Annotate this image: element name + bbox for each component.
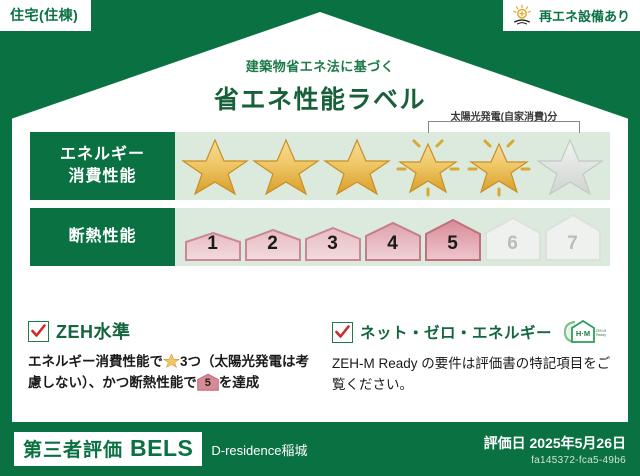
- zeh-standard-title: ZEH水準: [56, 318, 131, 344]
- insulation-badge-6: 6: [484, 216, 542, 261]
- net-zero-energy-title: ネット・ゼロ・エネルギー: [360, 321, 552, 343]
- evaluation-info: 評価日 2025年5月26日 fa145372-fca5-49b6: [484, 433, 626, 466]
- star-rating: [181, 135, 604, 197]
- insulation-badge-3-value: 3: [304, 233, 362, 255]
- star-2-filled: [252, 135, 320, 197]
- star-3-filled: [323, 135, 391, 197]
- svg-text:Ready: Ready: [596, 333, 606, 337]
- insulation-badge-2: 2: [244, 228, 302, 261]
- insulation-badge-5: 5: [424, 218, 482, 261]
- solar-generation-note: 太陽光発電(自家消費)分: [411, 108, 597, 123]
- energy-label-line2: 消費性能: [68, 166, 136, 188]
- building-type-chip: 住宅(住棟): [0, 0, 91, 31]
- inline-insulation-badge: 5: [197, 373, 219, 391]
- energy-consumption-row: エネルギー 消費性能 太陽光発電(自家消費)分: [30, 132, 610, 200]
- zeh-m-ready-logo: H·M ZEH-M Ready: [561, 318, 607, 346]
- net-zero-energy-head: ネット・ゼロ・エネルギー H·M ZEH-M Ready: [332, 318, 618, 346]
- evaluation-id: fa145372-fca5-49b6: [484, 455, 626, 466]
- energy-consumption-stars-area: 太陽光発電(自家消費)分: [175, 132, 610, 200]
- star-5-filled-solar: [465, 135, 533, 197]
- energy-label-line1: エネルギー: [60, 144, 145, 166]
- bels-jp-label: 第三者評価: [23, 435, 123, 462]
- building-name: D-residence稲城: [211, 440, 307, 459]
- zeh-body-post: を達成: [219, 375, 260, 390]
- insulation-grade-scale: 1 2 3: [184, 213, 602, 261]
- insulation-badge-3: 3: [304, 226, 362, 261]
- insulation-badges-area: 1 2 3: [175, 208, 610, 266]
- check-icon: [332, 322, 353, 343]
- insulation-badge-4-value: 4: [364, 233, 422, 255]
- insulation-badge-5-value: 5: [424, 233, 482, 255]
- sun-solar-icon: [511, 4, 533, 26]
- net-zero-energy-note: ネット・ゼロ・エネルギー H·M ZEH-M Ready ZEH-M Ready…: [332, 318, 618, 396]
- insulation-performance-label: 断熱性能: [30, 208, 175, 266]
- zeh-standard-note: ZEH水準 エネルギー消費性能で3つ（太陽光発電は考慮しない）、かつ断熱性能で5…: [28, 318, 314, 396]
- insulation-badge-1: 1: [184, 231, 242, 261]
- insulation-label-text: 断熱性能: [68, 226, 136, 248]
- inline-badge-value: 5: [197, 373, 219, 391]
- star-1-filled: [181, 135, 249, 197]
- inline-star-icon: [163, 352, 180, 369]
- notes-section: ZEH水準 エネルギー消費性能で3つ（太陽光発電は考慮しない）、かつ断熱性能で5…: [28, 318, 618, 396]
- label-title-block: 建築物省エネ法に基づく 省エネ性能ラベル: [0, 56, 640, 116]
- insulation-badge-7: 7: [544, 213, 602, 261]
- insulation-badge-6-value: 6: [484, 233, 542, 255]
- star-4-filled-solar: [394, 135, 462, 197]
- insulation-badge-1-value: 1: [184, 233, 242, 255]
- title-subtitle: 建築物省エネ法に基づく: [0, 56, 640, 75]
- insulation-badge-7-value: 7: [544, 233, 602, 255]
- insulation-performance-row: 断熱性能 1: [30, 208, 610, 266]
- insulation-badge-2-value: 2: [244, 233, 302, 255]
- svg-text:H·M: H·M: [576, 329, 590, 338]
- label-footer: 第三者評価 BELS D-residence稲城 評価日 2025年5月26日 …: [0, 422, 640, 476]
- rating-rows: エネルギー 消費性能 太陽光発電(自家消費)分: [30, 132, 610, 266]
- renewable-chip-label: 再エネ設備あり: [539, 6, 630, 25]
- bels-block: 第三者評価 BELS D-residence稲城: [14, 432, 307, 466]
- zeh-standard-body: エネルギー消費性能で3つ（太陽光発電は考慮しない）、かつ断熱性能で5を達成: [28, 352, 314, 394]
- evaluation-date: 評価日 2025年5月26日: [484, 433, 626, 453]
- zeh-standard-head: ZEH水準: [28, 318, 314, 344]
- energy-consumption-label: エネルギー 消費性能: [30, 132, 175, 200]
- net-zero-energy-body: ZEH-M Ready の要件は評価書の特記項目をご覧ください。: [332, 354, 618, 396]
- insulation-badge-4: 4: [364, 221, 422, 261]
- zeh-body-pre: エネルギー消費性能で: [28, 354, 163, 369]
- energy-performance-label: 住宅(住棟) 再エネ設備あり 建築物省エネ法に基づく 省エネ性能ラベル: [0, 0, 640, 476]
- check-icon: [28, 321, 49, 342]
- renewable-equipment-chip: 再エネ設備あり: [503, 0, 640, 31]
- bels-en-label: BELS: [130, 435, 193, 462]
- bels-chip: 第三者評価 BELS: [14, 432, 202, 466]
- star-6-empty: [536, 135, 604, 197]
